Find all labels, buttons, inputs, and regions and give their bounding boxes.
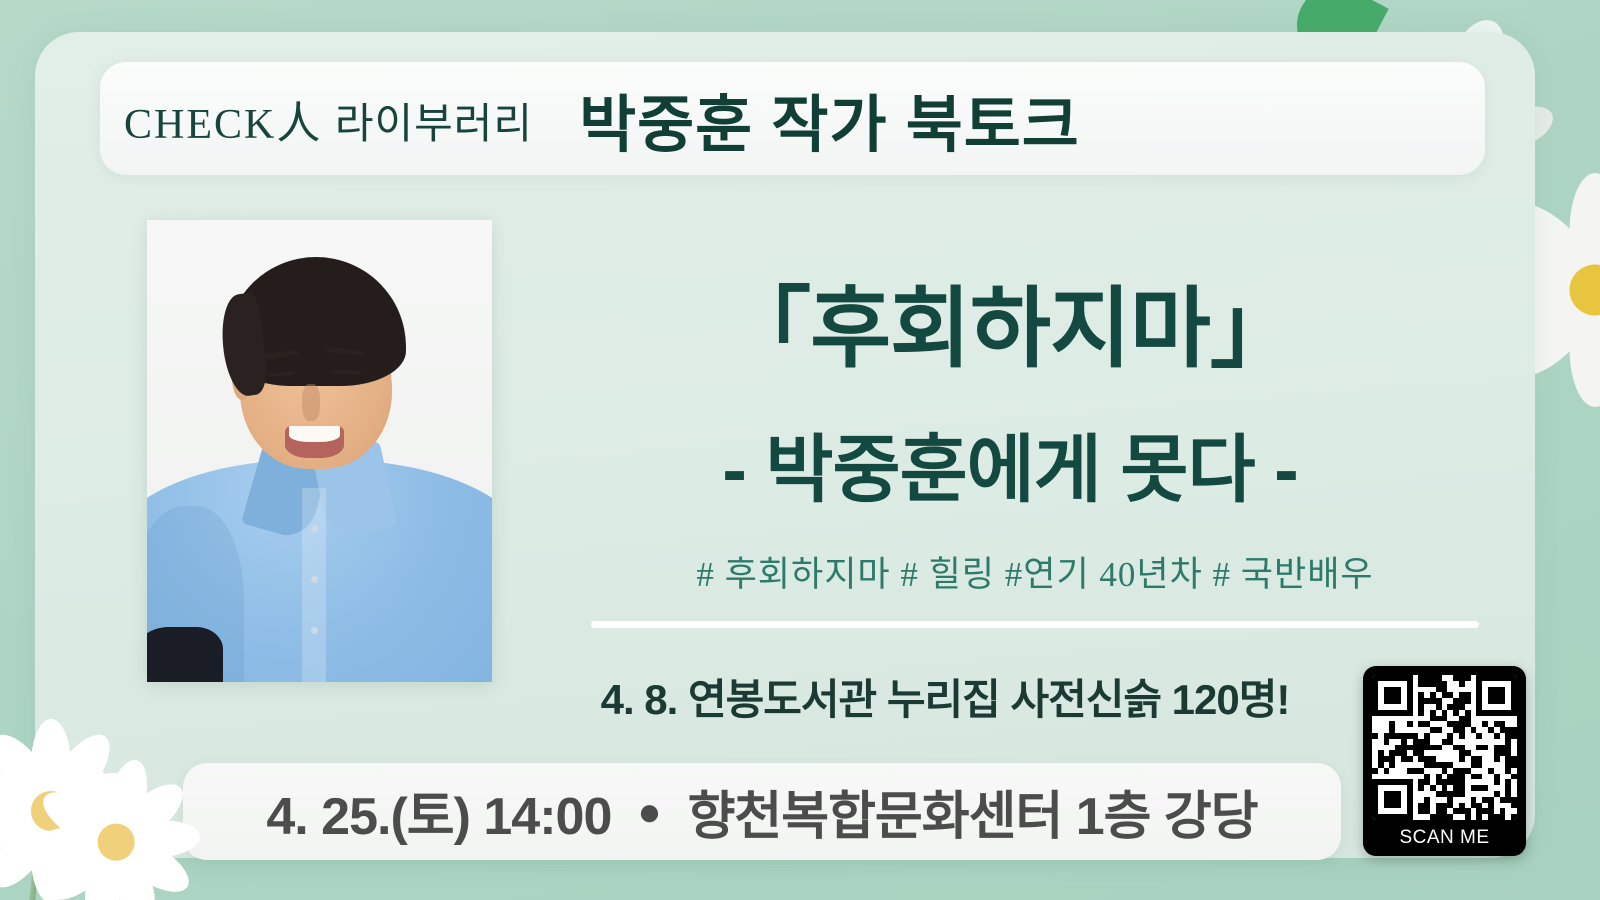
speaker-photo [147,220,492,682]
book-subtitle: - 박중훈에게 못다 - [595,410,1425,517]
header-card: CHECK人 라이부러리 박중훈 작가 북토크 [100,62,1485,175]
event-details-bar: 4. 25.(토) 14:00 ● 향천복합문화센터 1층 강당 [183,763,1341,860]
hashtag-list: # 후회하지마 # 힐링 #연기 40년차 # 국반배우 [595,546,1475,597]
brand-cjk-icon: 人 [276,99,322,148]
brand-logo: CHECK人 라이부러리 [124,87,533,151]
qr-label: SCAN ME [1372,820,1517,856]
qr-code-block[interactable]: SCAN ME [1363,666,1526,856]
qr-code-icon[interactable] [1372,675,1517,820]
event-datetime: 4. 25.(토) 14:00 [266,774,611,849]
book-title: 「후회하지마」 [595,280,1425,379]
brand-korean: 라이부러리 [335,102,533,148]
poster-canvas: CHECK人 라이부러리 박중훈 작가 북토크 [0,0,1600,900]
divider [591,621,1479,628]
page-title: 박중훈 작가 북토크 [579,74,1080,164]
event-venue: 향천복합문화센터 1층 강당 [688,774,1258,849]
inner-panel: CHECK人 라이부러리 박중훈 작가 북토크 [35,32,1535,858]
separator-dot-icon: ● [637,792,661,832]
brand-latin: CHECK [124,102,276,148]
daisy-flower-icon [62,788,170,896]
preregistration-notice: 4. 8. 연봉도서관 누리집 사전신슭 120명! [535,666,1355,727]
